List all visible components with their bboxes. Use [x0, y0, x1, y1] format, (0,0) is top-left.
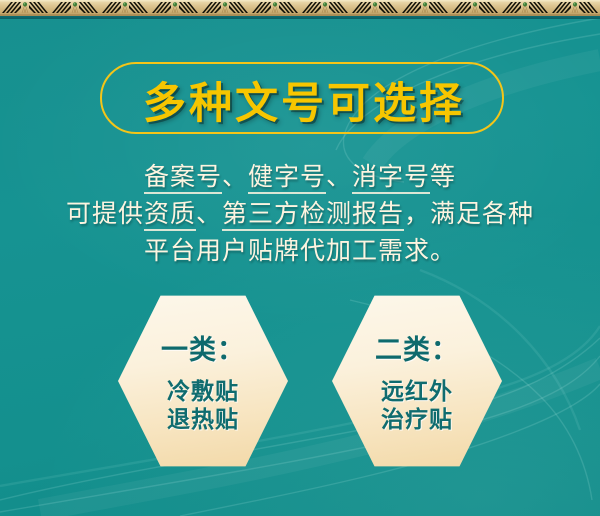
body-segment-highlighted: 资质: [144, 199, 196, 231]
hexagon-item: 远红外: [381, 378, 453, 406]
body-paragraph: 备案号、健字号、消字号等可提供资质、第三方检测报告，满足各种平台用户贴牌代加工需…: [0, 158, 600, 269]
body-segment-highlighted: 备案号: [144, 162, 222, 194]
ornamental-top-border: [0, 0, 600, 16]
body-segment: 等: [430, 162, 456, 191]
body-segment-highlighted: 健字号: [248, 162, 326, 194]
hexagon-content: 一类： 冷敷贴 退热贴: [118, 293, 288, 469]
title-frame: 多种文号可选择: [100, 62, 504, 134]
top-border-underline: [0, 16, 600, 19]
hexagon-item: 治疗贴: [381, 406, 453, 434]
hexagon-heading: 二类：: [375, 328, 459, 367]
body-line: 可提供资质、第三方检测报告，满足各种: [0, 195, 600, 232]
body-line: 备案号、健字号、消字号等: [0, 158, 600, 195]
hexagon-item: 退热贴: [167, 406, 239, 434]
body-segment: 、: [196, 199, 222, 228]
category-hexagon-1: 一类： 冷敷贴 退热贴: [118, 293, 288, 469]
body-line: 平台用户贴牌代加工需求。: [0, 232, 600, 269]
body-segment: 平台用户贴牌代加工需求。: [144, 236, 456, 265]
body-segment: 、: [222, 162, 248, 191]
body-segment-highlighted: 消字号: [352, 162, 430, 194]
hexagon-item: 冷敷贴: [167, 378, 239, 406]
category-hexagon-2: 二类： 远红外 治疗贴: [332, 293, 502, 469]
page-title: 多种文号可选择: [102, 64, 506, 136]
body-segment-highlighted: 第三方检测报告: [222, 199, 404, 231]
body-segment: ，满足各种: [404, 199, 534, 228]
body-segment: 、: [326, 162, 352, 191]
hexagon-content: 二类： 远红外 治疗贴: [332, 293, 502, 469]
body-segment: 可提供: [66, 199, 144, 228]
poster-canvas: 多种文号可选择 备案号、健字号、消字号等可提供资质、第三方检测报告，满足各种平台…: [0, 0, 600, 516]
hexagon-heading: 一类：: [161, 328, 245, 367]
